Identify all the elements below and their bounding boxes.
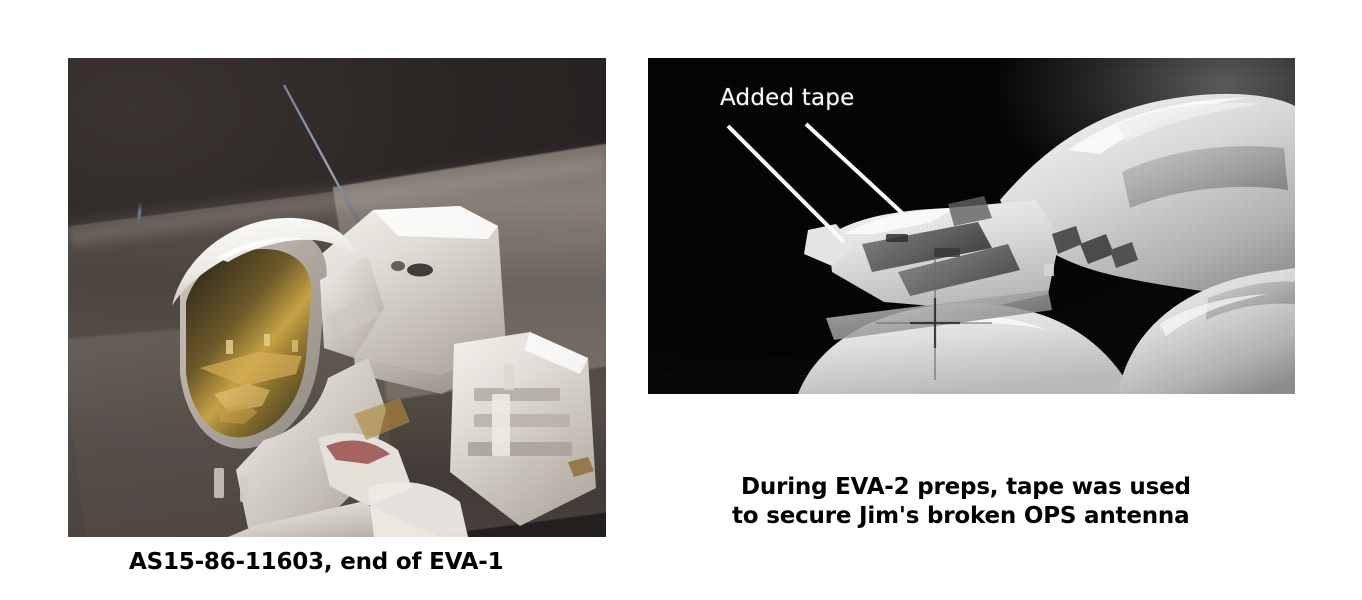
eva1-photograph <box>68 58 606 537</box>
right-photo-caption: During EVA-2 preps, tape was used to sec… <box>741 473 1191 531</box>
right-caption-line-2: to secure Jim's broken OPS antenna <box>732 502 1191 531</box>
left-photo-caption: AS15-86-11603, end of EVA-1 <box>129 549 503 575</box>
right-caption-line-1: During EVA-2 preps, tape was used <box>741 474 1191 500</box>
tv-noise-overlay <box>648 58 1295 394</box>
eva2-tape-photograph: Added tape <box>648 58 1295 394</box>
film-grain-overlay <box>68 58 606 537</box>
slide-root: AS15-86-11603, end of EVA-1 <box>0 0 1362 600</box>
